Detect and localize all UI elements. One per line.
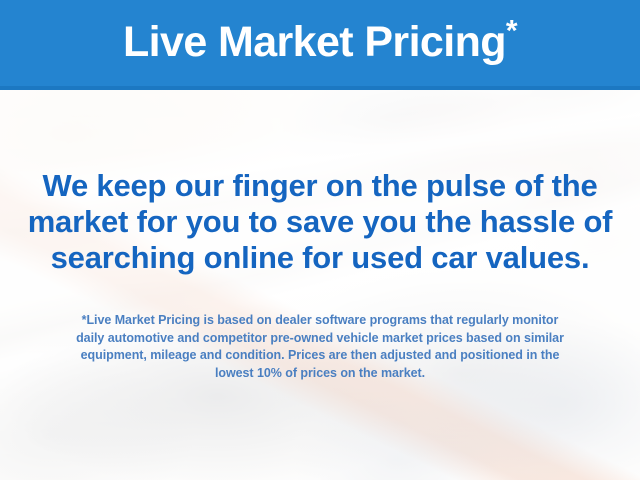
fineprint-line-2: daily automotive and competitor pre-owne… — [0, 330, 640, 348]
fineprint-line-1: *Live Market Pricing is based on dealer … — [0, 312, 640, 330]
fineprint-disclaimer: *Live Market Pricing is based on dealer … — [0, 312, 640, 382]
page-title-text: Live Market Pricing — [123, 18, 506, 66]
headline-line-3: searching online for used car values. — [0, 240, 640, 276]
header-bar: Live Market Pricing* — [0, 0, 640, 90]
live-market-pricing-banner: Live Market Pricing* We keep our finger … — [0, 0, 640, 480]
fineprint-line-4: lowest 10% of prices on the market. — [0, 365, 640, 383]
title-asterisk: * — [506, 14, 517, 47]
headline-line-1: We keep our finger on the pulse of the — [0, 168, 640, 204]
headline-line-2: market for you to save you the hassle of — [0, 204, 640, 240]
headline: We keep our finger on the pulse of the m… — [0, 168, 640, 276]
fineprint-line-3: equipment, mileage and condition. Prices… — [0, 347, 640, 365]
page-title: Live Market Pricing* — [123, 21, 517, 66]
